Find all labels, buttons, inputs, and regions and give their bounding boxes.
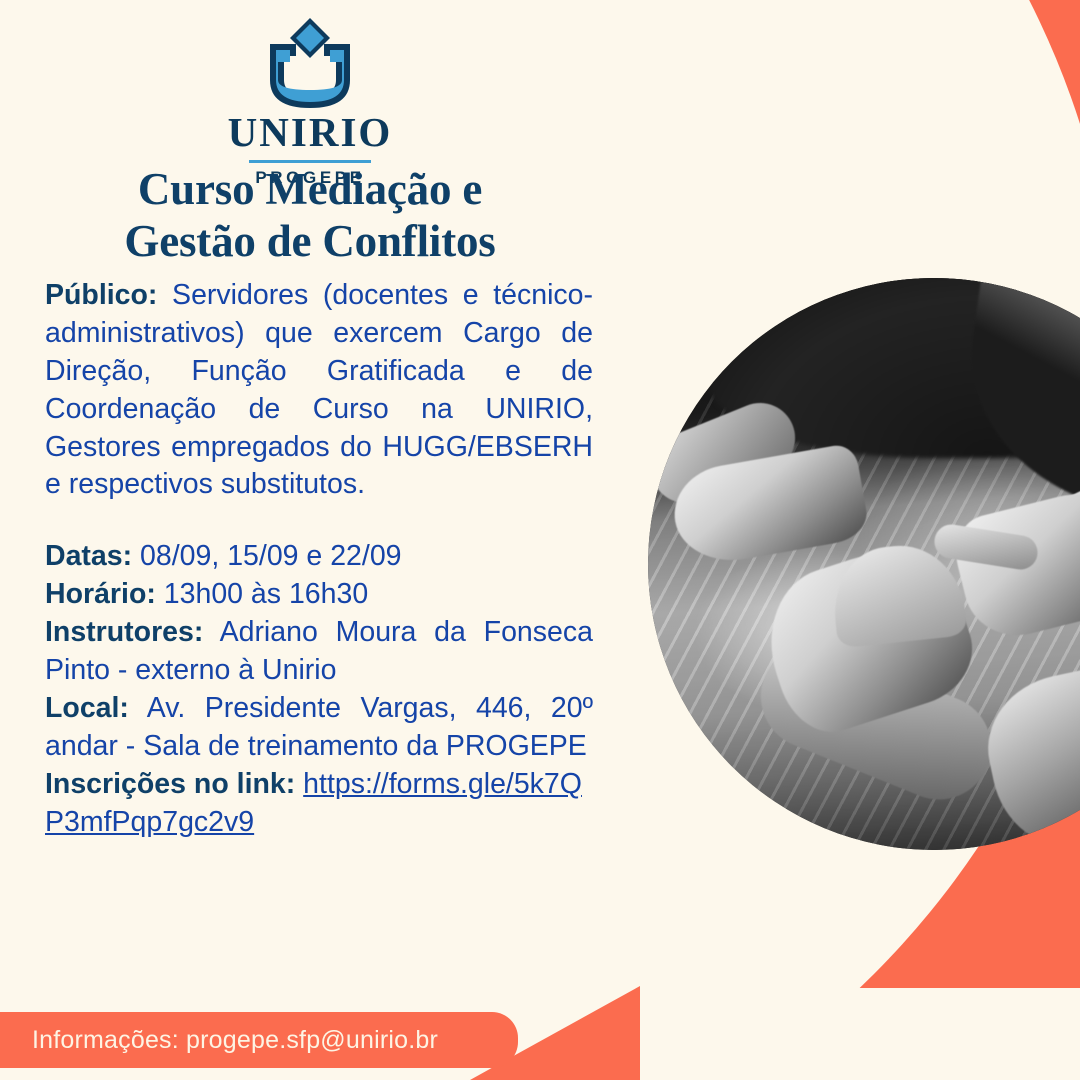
- unirio-progepe-logo: UNIRIO PROGEPE: [0, 14, 620, 188]
- page-title: Curso Mediação e Gestão de Conflitos: [0, 163, 620, 267]
- time-line: Horário: 13h00 às 16h30: [45, 576, 593, 614]
- paragraph-spacer: [45, 504, 593, 538]
- dates-line: Datas: 08/09, 15/09 e 22/09: [45, 538, 593, 576]
- title-line-1: Curso Mediação e: [0, 163, 620, 215]
- footer-bar: Informações: progepe.sfp@unirio.br: [0, 1012, 518, 1068]
- title-line-2: Gestão de Conflitos: [0, 215, 620, 267]
- poster-body-content: Público: Servidores (docentes e técnico-…: [45, 277, 593, 841]
- signup-line: Inscrições no link: https://forms.gle/5k…: [45, 766, 593, 842]
- hands-photo-circle: [648, 278, 1080, 850]
- time-value: 13h00 às 16h30: [156, 578, 368, 610]
- audience-label: Público:: [45, 279, 157, 311]
- audience-text: Servidores (docentes e técnico-administr…: [45, 279, 593, 500]
- location-line: Local: Av. Presidente Vargas, 446, 20º a…: [45, 690, 593, 766]
- poster-canvas: UNIRIO PROGEPE Curso Mediação e Gestão d…: [0, 0, 1080, 1080]
- instructors-label: Instrutores:: [45, 616, 203, 648]
- dates-label: Datas:: [45, 540, 132, 572]
- instructors-line: Instrutores: Adriano Moura da Fonseca Pi…: [45, 614, 593, 690]
- footer-contact-text: Informações: progepe.sfp@unirio.br: [32, 1026, 438, 1055]
- time-label: Horário:: [45, 578, 156, 610]
- dates-value: 08/09, 15/09 e 22/09: [132, 540, 401, 572]
- signup-label: Inscrições no link:: [45, 768, 295, 800]
- unirio-u-diamond-icon: [256, 14, 364, 110]
- audience-paragraph: Público: Servidores (docentes e técnico-…: [45, 277, 593, 504]
- location-label: Local:: [45, 692, 129, 724]
- logo-wordmark: UNIRIO: [228, 112, 393, 153]
